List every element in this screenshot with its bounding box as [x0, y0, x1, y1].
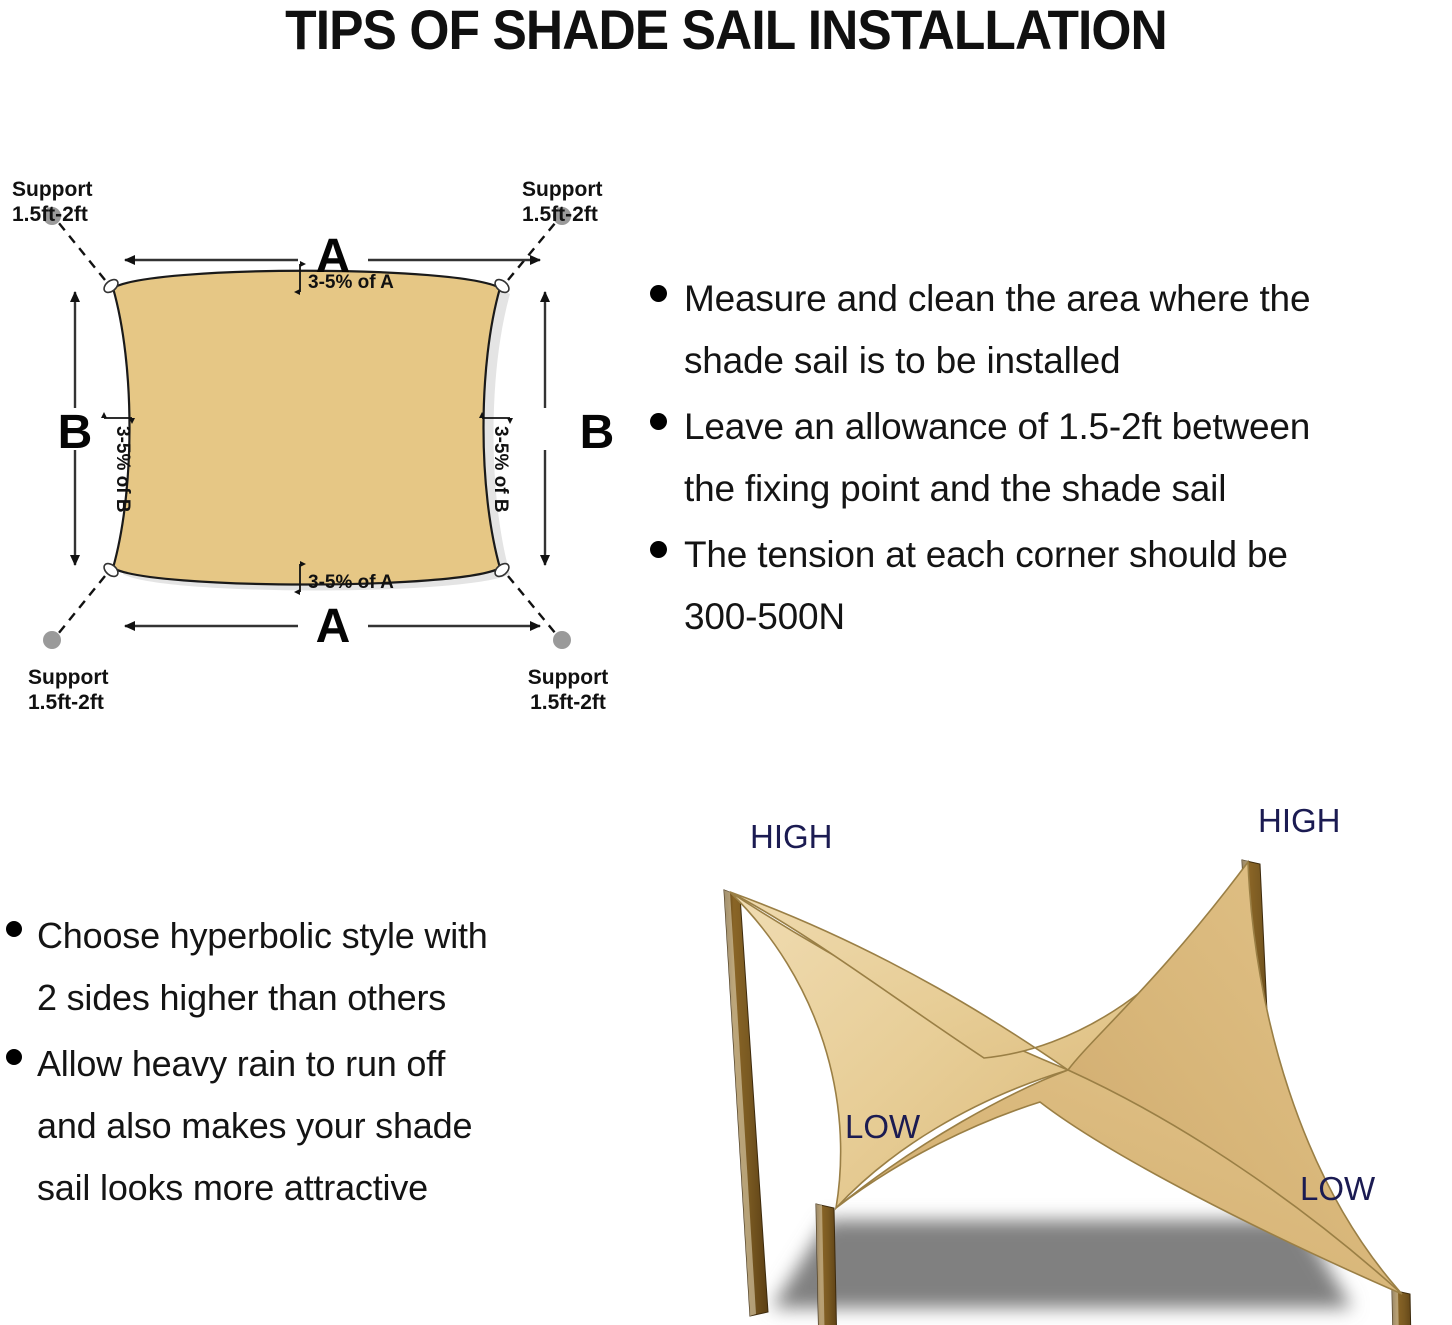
tip-line: The tension at each corner should be	[684, 534, 1288, 575]
label-high-right: HIGH	[1258, 802, 1341, 839]
tip-line: 300-500N	[684, 596, 845, 637]
dimension-label-b-left: B	[58, 406, 93, 459]
tip-text: Leave an allowance of 1.5-2ft between th…	[684, 396, 1310, 520]
bullet-icon	[650, 413, 667, 430]
dimension-arrow-b-right: B	[545, 292, 614, 565]
tip-line: shade sail is to be installed	[684, 340, 1120, 381]
list-item: The tension at each corner should be 300…	[650, 524, 1452, 648]
installation-tips-list: Measure and clean the area where the sha…	[650, 268, 1452, 652]
list-item: Leave an allowance of 1.5-2ft between th…	[650, 396, 1452, 520]
tip-line: the fixing point and the shade sail	[684, 468, 1226, 509]
style-tip-line: Choose hyperbolic style with	[37, 915, 488, 956]
style-tip-line: and also makes your shade	[37, 1105, 472, 1146]
tip-text: The tension at each corner should be 300…	[684, 524, 1288, 648]
shade-sail-shape	[113, 271, 500, 585]
post-high-left	[724, 890, 768, 1316]
style-tip-line: sail looks more attractive	[37, 1167, 428, 1208]
dimension-label-b-right: B	[580, 406, 615, 459]
page-title: TIPS OF SHADE SAIL INSTALLATION	[58, 0, 1394, 60]
style-tip-line: Allow heavy rain to run off	[37, 1043, 445, 1084]
ground-shadow	[772, 1220, 1352, 1308]
bullet-icon	[650, 541, 667, 558]
list-item: Allow heavy rain to run off and also mak…	[6, 1033, 626, 1219]
curve-depth-label-a-top: 3-5% of A	[308, 272, 394, 293]
svg-text:Support: Support	[12, 178, 92, 201]
list-item: Measure and clean the area where the sha…	[650, 268, 1452, 392]
svg-text:1.5ft-2ft: 1.5ft-2ft	[522, 203, 598, 226]
tip-line: Leave an allowance of 1.5-2ft between	[684, 406, 1310, 447]
curve-depth-label-b-left: 3-5% of B	[112, 426, 133, 513]
svg-text:Support: Support	[28, 666, 108, 689]
style-tip-text: Allow heavy rain to run off and also mak…	[37, 1033, 472, 1219]
shade-sail-dimension-diagram: Support 1.5ft-2ft Support 1.5ft-2ft Supp…	[0, 160, 660, 740]
bullet-icon	[650, 285, 667, 302]
bullet-icon	[6, 1049, 22, 1065]
curve-depth-label-a-bottom: 3-5% of A	[308, 572, 394, 593]
curve-depth-b-left: 3-5% of B	[104, 418, 133, 513]
hyperbolic-sail-illustration: HIGH HIGH LOW LOW	[640, 800, 1452, 1325]
svg-text:1.5ft-2ft: 1.5ft-2ft	[530, 691, 606, 714]
label-low-right: LOW	[1300, 1170, 1376, 1207]
support-label-bottom-right: Support 1.5ft-2ft	[528, 666, 608, 714]
svg-text:Support: Support	[528, 666, 608, 689]
post-low-right	[1392, 1290, 1414, 1325]
tip-text: Measure and clean the area where the sha…	[684, 268, 1310, 392]
list-item: Choose hyperbolic style with 2 sides hig…	[6, 905, 626, 1029]
style-tip-line: 2 sides higher than others	[37, 977, 446, 1018]
label-low-left: LOW	[845, 1108, 921, 1145]
tip-line: Measure and clean the area where the	[684, 278, 1310, 319]
post-low-left	[816, 1204, 838, 1325]
support-label-bottom-left: Support 1.5ft-2ft	[28, 666, 108, 714]
curve-depth-label-b-right: 3-5% of B	[490, 426, 511, 513]
style-tip-text: Choose hyperbolic style with 2 sides hig…	[37, 905, 488, 1029]
dimension-arrow-a-bottom: A	[125, 600, 540, 653]
style-tips-list: Choose hyperbolic style with 2 sides hig…	[6, 905, 626, 1223]
svg-text:1.5ft-2ft: 1.5ft-2ft	[12, 203, 88, 226]
bullet-icon	[6, 921, 22, 937]
support-label-top-right: Support 1.5ft-2ft	[522, 178, 602, 226]
support-label-top-left: Support 1.5ft-2ft	[12, 178, 92, 226]
label-high-left: HIGH	[750, 818, 833, 855]
svg-text:1.5ft-2ft: 1.5ft-2ft	[28, 691, 104, 714]
dimension-label-a-bottom: A	[316, 600, 351, 653]
dimension-arrow-b-left: B	[58, 292, 93, 565]
svg-text:Support: Support	[522, 178, 602, 201]
